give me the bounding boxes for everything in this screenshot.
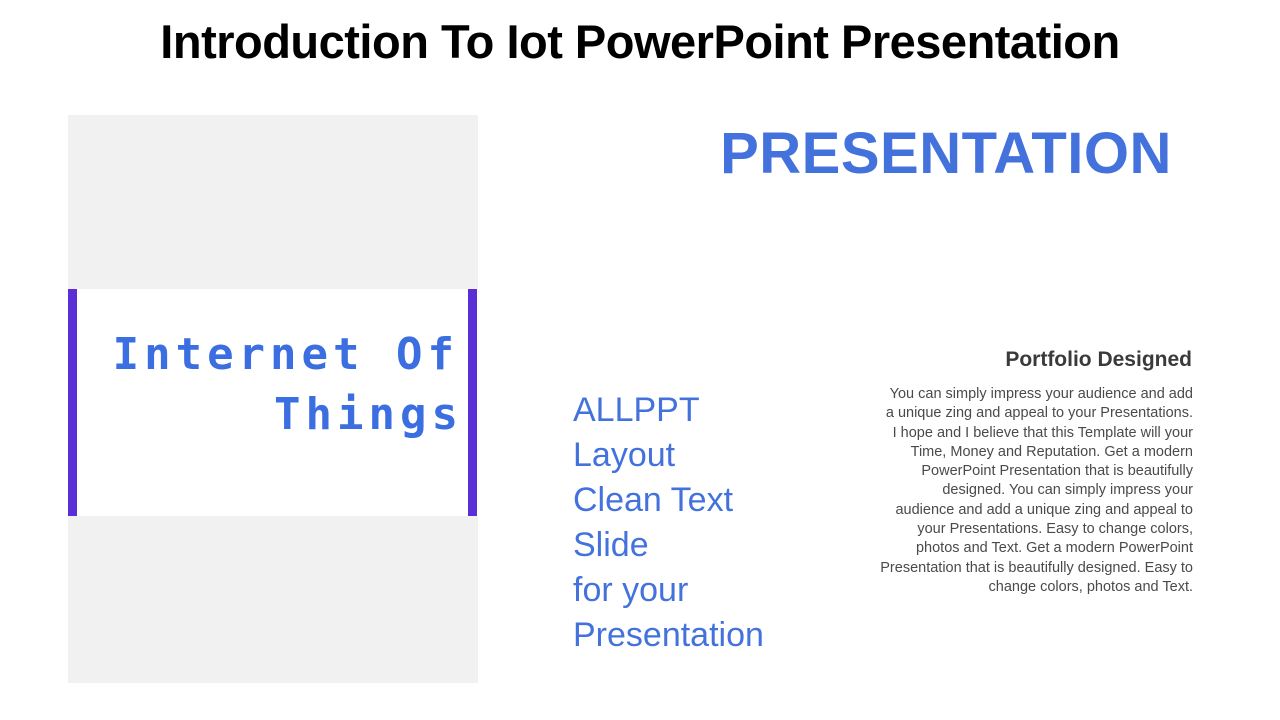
layout-line-5: for your xyxy=(573,568,843,613)
layout-line-3: Clean Text xyxy=(573,478,843,523)
presentation-heading: PRESENTATION xyxy=(700,120,1192,187)
page-title: Introduction To Iot PowerPoint Presentat… xyxy=(0,14,1280,69)
iot-title-line-2: Things xyxy=(88,385,463,445)
layout-line-4: Slide xyxy=(573,523,843,568)
portfolio-body-text: You can simply impress your audience and… xyxy=(880,385,1193,597)
iot-title-line-1: Internet Of xyxy=(88,325,463,385)
layout-line-1: ALLPPT xyxy=(573,388,843,433)
iot-image-card: Internet Of Things xyxy=(68,115,478,683)
band-accent-rule-right xyxy=(468,289,477,516)
layout-text-block: ALLPPT Layout Clean Text Slide for your … xyxy=(573,388,843,658)
portfolio-heading: Portfolio Designed xyxy=(880,348,1192,372)
iot-title: Internet Of Things xyxy=(88,325,463,445)
band-accent-rule-left xyxy=(68,289,77,516)
layout-line-2: Layout xyxy=(573,433,843,478)
layout-line-6: Presentation xyxy=(573,613,843,658)
slide-canvas: Introduction To Iot PowerPoint Presentat… xyxy=(0,0,1280,720)
